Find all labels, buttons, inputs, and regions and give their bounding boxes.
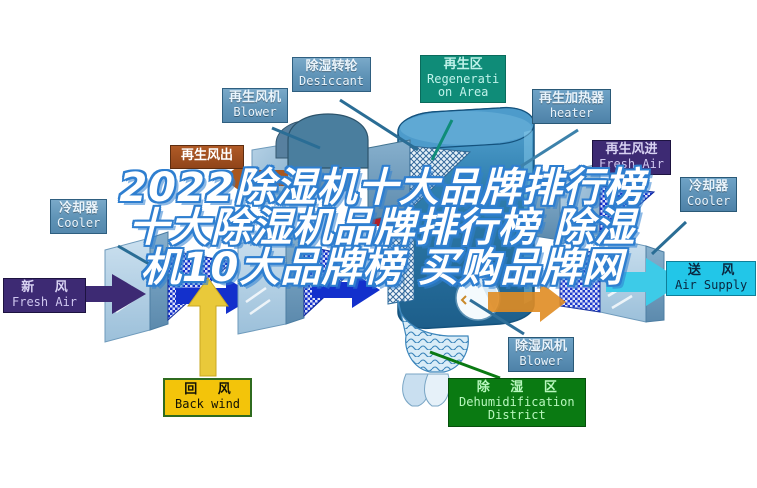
duct-block-2: [238, 228, 366, 334]
label-heater-en: heater: [539, 107, 604, 120]
dehumidifier-schematic: [0, 0, 757, 488]
label-regeneration-area: 再生区 Regenerati on Area: [420, 55, 506, 103]
label-desiccant-rotor: 除湿转轮 Desiccant: [292, 57, 371, 92]
label-regen-in-cn: 再生风进: [599, 143, 664, 158]
label-cooler-right-en: Cooler: [687, 195, 730, 208]
label-dehum-district-en1: Dehumidification: [459, 396, 575, 409]
label-desiccant-en: Desiccant: [299, 75, 364, 88]
label-air-supply-en: Air Supply: [675, 279, 747, 292]
label-dehum-blower-en: Blower: [515, 355, 567, 368]
label-cooler-right: 冷却器 Cooler: [680, 177, 737, 212]
label-cooler-left-cn: 冷却器: [57, 202, 100, 217]
label-desiccant-cn: 除湿转轮: [299, 60, 364, 75]
label-dehum-blower-cn: 除湿风机: [515, 340, 567, 355]
label-dehumidification-blower: 除湿风机 Blower: [508, 337, 574, 372]
label-air-supply: 送 风 Air Supply: [666, 261, 756, 296]
label-back-wind: 回 风 Back wind: [163, 378, 252, 417]
label-regeneration-air-in: 再生风进 Fresh Air: [592, 140, 671, 175]
label-cooler-right-cn: 冷却器: [687, 180, 730, 195]
label-fresh-air-cn: 新 风: [12, 281, 77, 296]
label-heater-cn: 再生加热器: [539, 92, 604, 107]
diagram-canvas: 除湿转轮 Desiccant 再生风机 Blower 再生区 Regenerat…: [0, 0, 757, 488]
label-regeneration-blower: 再生风机 Blower: [222, 88, 288, 123]
regeneration-intake-duct: [534, 164, 654, 244]
label-regen-area-en1: Regenerati: [427, 73, 499, 86]
label-cooler-left: 冷却器 Cooler: [50, 199, 107, 234]
label-dehum-district-en2: District: [459, 409, 575, 422]
label-regeneration-heater: 再生加热器 heater: [532, 89, 611, 124]
label-dehumidification-district: 除 湿 区 Dehumidification District: [448, 378, 586, 427]
label-fresh-air: 新 风 Fresh Air: [3, 278, 86, 313]
label-back-wind-cn: 回 风: [175, 383, 240, 398]
label-regen-area-cn: 再生区: [427, 58, 499, 73]
label-regen-blower-cn: 再生风机: [229, 91, 281, 106]
label-back-wind-en: Back wind: [175, 398, 240, 411]
label-regen-out-cn: 再生风出: [181, 149, 233, 164]
label-air-supply-cn: 送 风: [675, 264, 747, 279]
label-fresh-air-en: Fresh Air: [12, 296, 77, 309]
label-dehum-district-cn: 除 湿 区: [459, 381, 575, 396]
label-regeneration-air-out: 再生风出: [170, 145, 244, 169]
label-cooler-left-en: Cooler: [57, 217, 100, 230]
label-regen-blower-en: Blower: [229, 106, 281, 119]
label-regen-area-en2: on Area: [427, 86, 499, 99]
label-regen-in-en: Fresh Air: [599, 158, 664, 171]
